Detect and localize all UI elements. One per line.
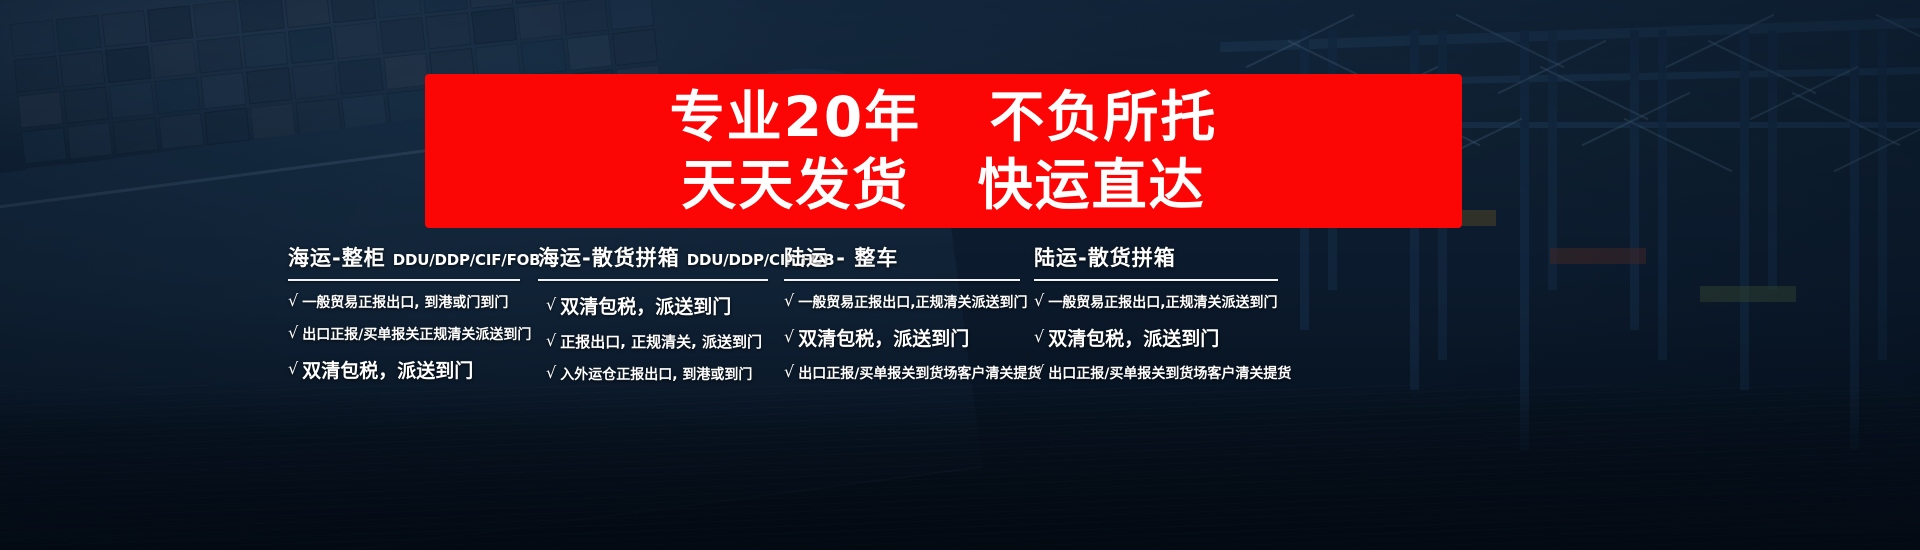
promo-banner: 专业20年 不负所托 天天发货 快运直达 海运-整柜 DDU/DDP/CIF/F… bbox=[0, 0, 1920, 550]
list-item: √ 一般贸易正报出口,正规清关派送到门 bbox=[784, 292, 1034, 312]
service-column-header: 陆运-散货拼箱 bbox=[1034, 242, 1294, 272]
service-title: 陆运-散货拼箱 bbox=[1034, 242, 1176, 272]
list-item-label: 正报出口, 正规清关, 派送到门 bbox=[560, 331, 762, 352]
list-item: √ 双清包税，派送到门 bbox=[1034, 324, 1294, 351]
check-icon: √ bbox=[1034, 329, 1044, 345]
list-item: √ 出口正报/买单报关到货场客户清关提货 bbox=[1034, 363, 1294, 383]
service-divider bbox=[1034, 279, 1278, 281]
list-item-label: 双清包税，派送到门 bbox=[302, 356, 473, 383]
service-column-header: 陆运 - 整车 bbox=[784, 242, 1034, 272]
list-item-label: 一般贸易正报出口,正规清关派送到门 bbox=[1048, 292, 1277, 312]
list-item: √ 一般贸易正报出口,正规清关派送到门 bbox=[1034, 292, 1294, 312]
check-icon: √ bbox=[288, 325, 298, 341]
service-title: 海运-整柜 bbox=[288, 242, 386, 272]
headline-text-2a: 天天发货 bbox=[681, 153, 909, 217]
list-item-label: 出口正报/买单报关正规清关派送到门 bbox=[302, 324, 531, 344]
list-item: √ 一般贸易正报出口, 到港或门到门 bbox=[288, 292, 538, 312]
service-divider bbox=[288, 279, 520, 281]
headline-text-1b: 不负所托 bbox=[989, 85, 1217, 149]
service-column-header: 海运-散货拼箱 DDU/DDP/CIF/FOB bbox=[538, 242, 784, 272]
list-item: √ 入外运仓正报出口, 到港或到门 bbox=[538, 364, 784, 384]
check-icon: √ bbox=[288, 361, 298, 377]
service-bullet-list: √ 一般贸易正报出口,正规清关派送到门 √ 双清包税，派送到门 √ 出口正报/买… bbox=[1034, 292, 1294, 383]
check-icon: √ bbox=[784, 329, 794, 345]
check-icon: √ bbox=[1034, 293, 1044, 309]
service-bullet-list: √ 一般贸易正报出口, 到港或门到门 √ 出口正报/买单报关正规清关派送到门 √… bbox=[288, 292, 538, 383]
list-item-label: 出口正报/买单报关到货场客户清关提货 bbox=[1048, 363, 1291, 383]
service-divider bbox=[784, 279, 1020, 281]
service-column-land-ftl: 陆运 - 整车 √ 一般贸易正报出口,正规清关派送到门 √ 双清包税，派送到门 … bbox=[784, 242, 1034, 395]
check-icon: √ bbox=[288, 293, 298, 309]
list-item: √ 双清包税，派送到门 bbox=[538, 292, 784, 319]
check-icon: √ bbox=[1034, 364, 1044, 380]
list-item: √ 双清包税，派送到门 bbox=[288, 356, 538, 383]
service-column-land-lcl: 陆运-散货拼箱 √ 一般贸易正报出口,正规清关派送到门 √ 双清包税，派送到门 … bbox=[1034, 242, 1294, 395]
check-icon: √ bbox=[546, 333, 556, 349]
service-column-sea-fcl: 海运-整柜 DDU/DDP/CIF/FOB √ 一般贸易正报出口, 到港或门到门… bbox=[288, 242, 538, 395]
check-icon: √ bbox=[546, 365, 556, 381]
service-columns: 海运-整柜 DDU/DDP/CIF/FOB √ 一般贸易正报出口, 到港或门到门… bbox=[288, 242, 1578, 397]
headline-text-1a: 专业20年 bbox=[670, 85, 922, 149]
service-title: 海运-散货拼箱 bbox=[538, 242, 680, 272]
list-item: √ 正报出口, 正规清关, 派送到门 bbox=[538, 331, 784, 352]
check-icon: √ bbox=[546, 297, 556, 313]
headline-text-2b: 快运直达 bbox=[978, 153, 1206, 217]
headline-plate: 专业20年 不负所托 天天发货 快运直达 bbox=[425, 74, 1462, 228]
check-icon: √ bbox=[784, 293, 794, 309]
headline-line-1: 专业20年 不负所托 bbox=[670, 84, 1218, 150]
service-terms-tag: DDU/DDP/CIF/FOB bbox=[393, 251, 541, 269]
list-item: √ 出口正报/买单报关到货场客户清关提货 bbox=[784, 363, 1034, 383]
list-item: √ 出口正报/买单报关正规清关派送到门 bbox=[288, 324, 538, 344]
list-item-label: 双清包税，派送到门 bbox=[798, 324, 969, 351]
service-column-sea-lcl: 海运-散货拼箱 DDU/DDP/CIF/FOB √ 双清包税，派送到门 √ 正报… bbox=[538, 242, 784, 396]
list-item-label: 出口正报/买单报关到货场客户清关提货 bbox=[798, 363, 1041, 383]
service-bullet-list: √ 一般贸易正报出口,正规清关派送到门 √ 双清包税，派送到门 √ 出口正报/买… bbox=[784, 292, 1034, 383]
check-icon: √ bbox=[784, 364, 794, 380]
service-bullet-list: √ 双清包税，派送到门 √ 正报出口, 正规清关, 派送到门 √ 入外运仓正报出… bbox=[538, 292, 784, 384]
list-item-label: 双清包税，派送到门 bbox=[560, 292, 731, 319]
service-column-header: 海运-整柜 DDU/DDP/CIF/FOB bbox=[288, 242, 538, 272]
list-item-label: 一般贸易正报出口, 到港或门到门 bbox=[302, 292, 508, 312]
list-item: √ 双清包税，派送到门 bbox=[784, 324, 1034, 351]
list-item-label: 双清包税，派送到门 bbox=[1048, 324, 1219, 351]
service-divider bbox=[538, 279, 768, 281]
service-title: 陆运 - 整车 bbox=[784, 242, 898, 272]
headline-line-2: 天天发货 快运直达 bbox=[681, 152, 1205, 218]
list-item-label: 一般贸易正报出口,正规清关派送到门 bbox=[798, 292, 1027, 312]
list-item-label: 入外运仓正报出口, 到港或到门 bbox=[560, 364, 752, 384]
